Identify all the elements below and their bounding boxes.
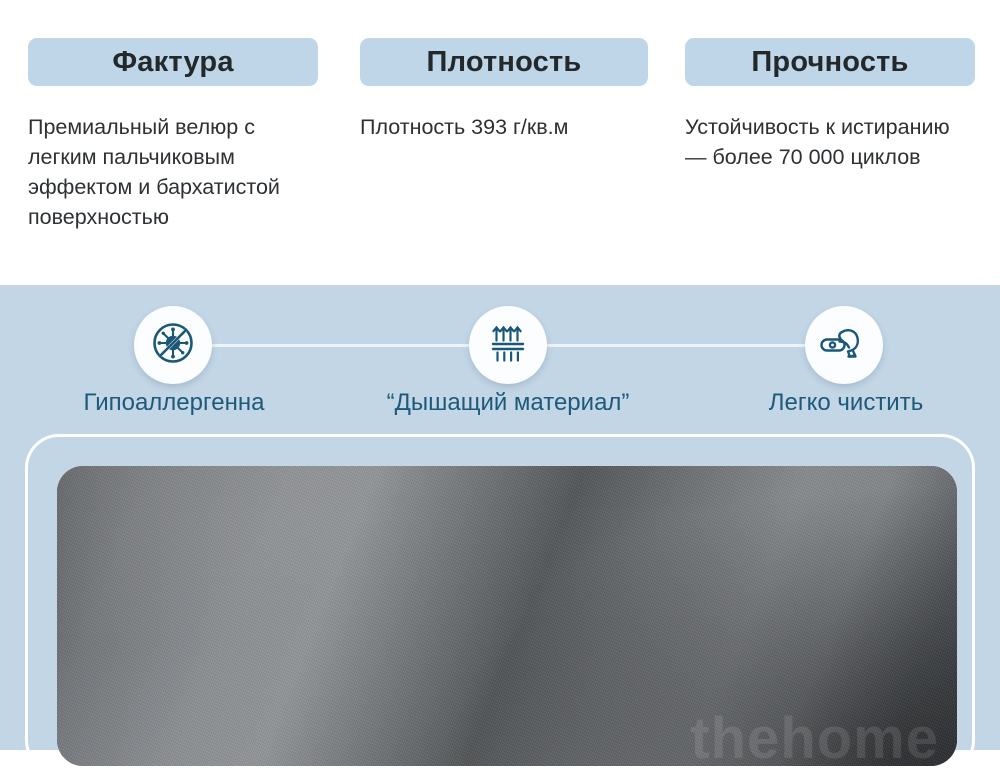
feature-badge-strength: Прочность	[685, 38, 975, 86]
benefit-icon-breathable	[469, 306, 547, 384]
benefit-icon-easyclean	[805, 306, 883, 384]
feature-badge-label: Фактура	[112, 46, 233, 79]
feature-badge-density: Плотность	[360, 38, 648, 86]
benefit-caption-breathable: “Дышащий материал”	[352, 389, 664, 417]
benefit-caption-hypoallergenic: Гипоаллергенна	[55, 389, 293, 417]
no-allergen-icon	[147, 317, 199, 374]
feature-badge-texture: Фактура	[28, 38, 318, 86]
air-flow-icon	[483, 318, 533, 373]
benefit-caption-easyclean: Легко чистить	[742, 389, 950, 417]
feature-column-strength: Прочность Устойчивость к истиранию — бол…	[685, 0, 975, 172]
fabric-photo: thehome	[57, 466, 957, 766]
benefit-icon-hypoallergenic	[134, 306, 212, 384]
feature-badge-label: Прочность	[751, 46, 908, 79]
feature-badge-label: Плотность	[427, 46, 582, 79]
feature-description-texture: Премиальный велюр с легким пальчиковым э…	[28, 112, 328, 232]
feature-column-texture: Фактура Премиальный велюр с легким пальч…	[28, 0, 318, 232]
feature-description-strength: Устойчивость к истиранию — более 70 000 …	[685, 112, 970, 172]
watermark: thehome	[690, 705, 939, 766]
vacuum-cleaner-icon	[818, 317, 870, 374]
feature-column-density: Плотность Плотность 393 г/кв.м	[360, 0, 648, 142]
feature-description-density: Плотность 393 г/кв.м	[360, 112, 648, 142]
features-section: Фактура Премиальный велюр с легким пальч…	[0, 0, 1000, 285]
